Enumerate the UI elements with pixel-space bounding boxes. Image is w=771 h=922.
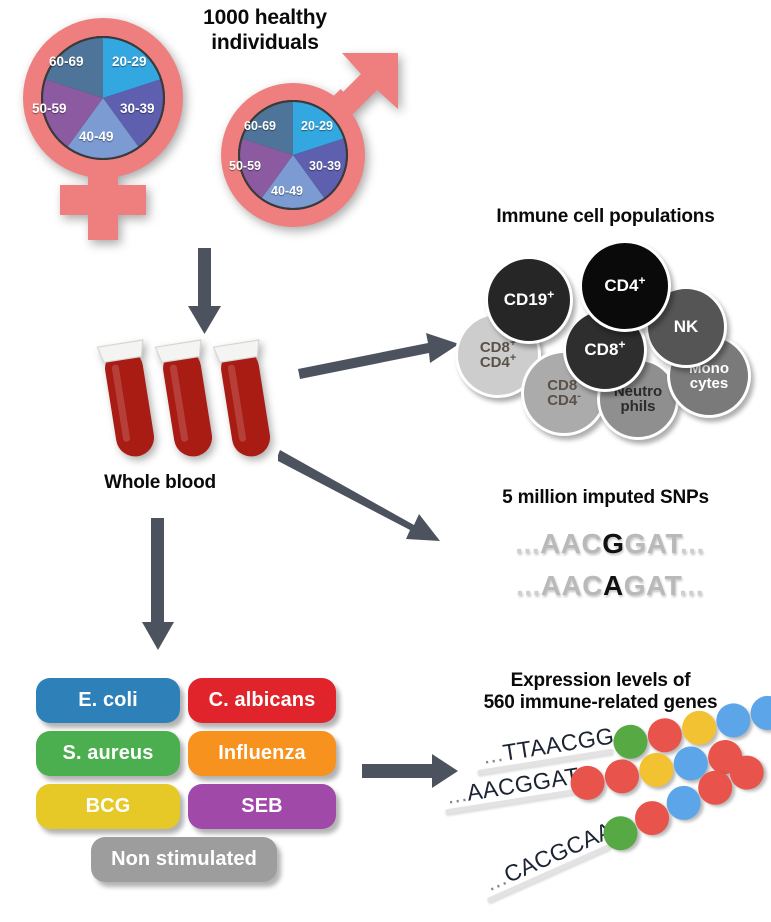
stimulation-chip-e-coli[interactable]: E. coli xyxy=(36,678,180,723)
stimulation-chip-s-aureus[interactable]: S. aureus xyxy=(36,731,180,776)
dna-bead xyxy=(637,750,676,789)
male-pie-label-50-59: 50-59 xyxy=(229,159,261,173)
chip-label: BCG xyxy=(86,795,131,818)
arrow-cohort-to-blood xyxy=(180,248,230,338)
dna-bead xyxy=(602,757,641,796)
arrow-blood-to-stimulations xyxy=(134,518,182,653)
chip-label: SEB xyxy=(241,795,282,818)
chip-label: Non stimulated xyxy=(111,848,257,871)
cell-cd19pos: CD19+ xyxy=(485,256,573,344)
male-symbol-svg xyxy=(205,45,405,245)
whole-blood-label: Whole blood xyxy=(60,472,260,494)
chip-label: S. aureus xyxy=(63,742,154,765)
stimulation-chip-influenza[interactable]: Influenza xyxy=(188,731,336,776)
stimulation-chip-c-albicans[interactable]: C. albicans xyxy=(188,678,336,723)
male-gender-symbol: 20-29 30-39 40-49 50-59 60-69 xyxy=(205,45,405,245)
female-pie-label-20-29: 20-29 xyxy=(112,54,147,69)
chip-label: Influenza xyxy=(218,742,306,765)
dna-bead xyxy=(611,722,650,761)
cell-cd4pos: CD4+ xyxy=(579,240,671,332)
female-pie-label-40-49: 40-49 xyxy=(79,129,114,144)
male-pie-label-40-49: 40-49 xyxy=(271,184,303,198)
snp-sequences: ...AACGGAT... ...AACAGAT... xyxy=(470,528,750,608)
snp-variant-2: A xyxy=(603,570,624,601)
expression-title-line1: Expression levels of xyxy=(430,670,771,692)
female-symbol-svg xyxy=(8,10,198,245)
chip-label: C. albicans xyxy=(209,689,316,712)
immune-cell-populations-title: Immune cell populations xyxy=(440,206,771,228)
immune-cell-cluster: CD8+ CD4+ CD8- CD4- Neutrophils Monocyte… xyxy=(455,240,755,425)
snps-title: 5 million imputed SNPs xyxy=(440,487,771,509)
stimulation-chip-seb[interactable]: SEB xyxy=(188,784,336,829)
dna-sequence-3: ...CACGCAA xyxy=(481,817,617,897)
cell-label-line2: CD4+ xyxy=(480,355,516,370)
arrow-blood-to-immune xyxy=(296,322,461,382)
male-pie-label-20-29: 20-29 xyxy=(301,119,333,133)
female-pie-label-50-59: 50-59 xyxy=(32,101,67,116)
blood-tubes xyxy=(92,330,282,470)
diagram-canvas: 1000 healthy individuals 20-29 30-39 40- xyxy=(0,0,771,922)
snp-sequence-row-1: ...AACGGAT... xyxy=(470,528,750,560)
female-gender-symbol: 20-29 30-39 40-49 50-59 60-69 xyxy=(8,10,198,245)
stimulation-conditions: E. coli C. albicans S. aureus Influenza … xyxy=(36,678,336,893)
arrow-blood-to-snps xyxy=(278,442,458,547)
stimulation-chip-bcg[interactable]: BCG xyxy=(36,784,180,829)
stimulation-chip-non-stimulated[interactable]: Non stimulated xyxy=(91,837,277,882)
snp-sequence-row-2: ...AACAGAT... xyxy=(470,570,750,602)
dna-bead xyxy=(645,716,684,755)
cell-label-nk: NK xyxy=(674,318,699,335)
snp-variant-1: G xyxy=(602,528,624,559)
female-pie-label-30-39: 30-39 xyxy=(120,101,155,116)
chip-label: E. coli xyxy=(78,689,138,712)
expression-dna-strands: ...TTAACGG ...AACGGAT ...CACGCAA xyxy=(455,735,771,915)
male-pie-label-60-69: 60-69 xyxy=(244,119,276,133)
female-pie-label-60-69: 60-69 xyxy=(49,54,84,69)
male-pie-label-30-39: 30-39 xyxy=(309,159,341,173)
